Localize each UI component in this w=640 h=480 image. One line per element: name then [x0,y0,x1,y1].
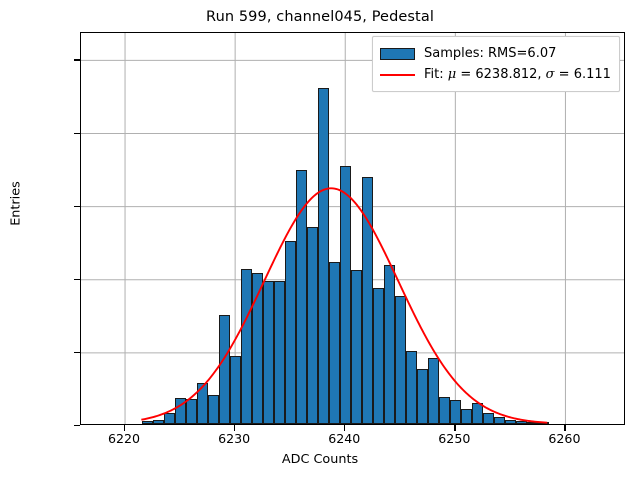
x-tick-mark [344,425,345,431]
x-tick-mark [454,425,455,431]
legend-label-samples: Samples: RMS=6.07 [424,46,556,61]
y-tick-mark [74,352,80,353]
legend-fit-sigma: = 6.111 [555,67,611,82]
x-tick-label: 6250 [419,431,489,446]
matplotlib-figure: Run 599, channel045, Pedestal 0200400600… [0,0,640,480]
x-axis-label: ADC Counts [0,452,640,467]
legend-label-fit: Fit: μ = 6238.812, σ = 6.111 [424,67,611,82]
fit-path [141,188,547,422]
legend-item-samples: Samples: RMS=6.07 [380,43,612,64]
legend-fit-mu: = 6238.812, [456,67,545,82]
chart-legend: Samples: RMS=6.07 Fit: μ = 6238.812, σ =… [372,36,620,92]
x-tick-mark [234,425,235,431]
y-axis-label: Entries [9,124,24,284]
legend-swatch-samples-icon [380,48,415,60]
mu-symbol: μ [448,67,456,82]
y-tick-mark [74,206,80,207]
x-tick-mark [124,425,125,431]
y-tick-mark [74,425,80,426]
legend-fit-prefix: Fit: [424,67,448,82]
legend-swatch-fit-icon [380,74,415,76]
page-title: Run 599, channel045, Pedestal [0,9,640,25]
legend-item-fit: Fit: μ = 6238.812, σ = 6.111 [380,64,612,85]
sigma-symbol: σ [546,67,555,82]
x-tick-mark [564,425,565,431]
x-tick-label: 6260 [529,431,599,446]
y-tick-mark [74,59,80,60]
y-tick-mark [74,279,80,280]
x-tick-label: 6220 [89,431,159,446]
x-tick-label: 6230 [199,431,269,446]
y-tick-mark [74,133,80,134]
x-tick-label: 6240 [309,431,379,446]
